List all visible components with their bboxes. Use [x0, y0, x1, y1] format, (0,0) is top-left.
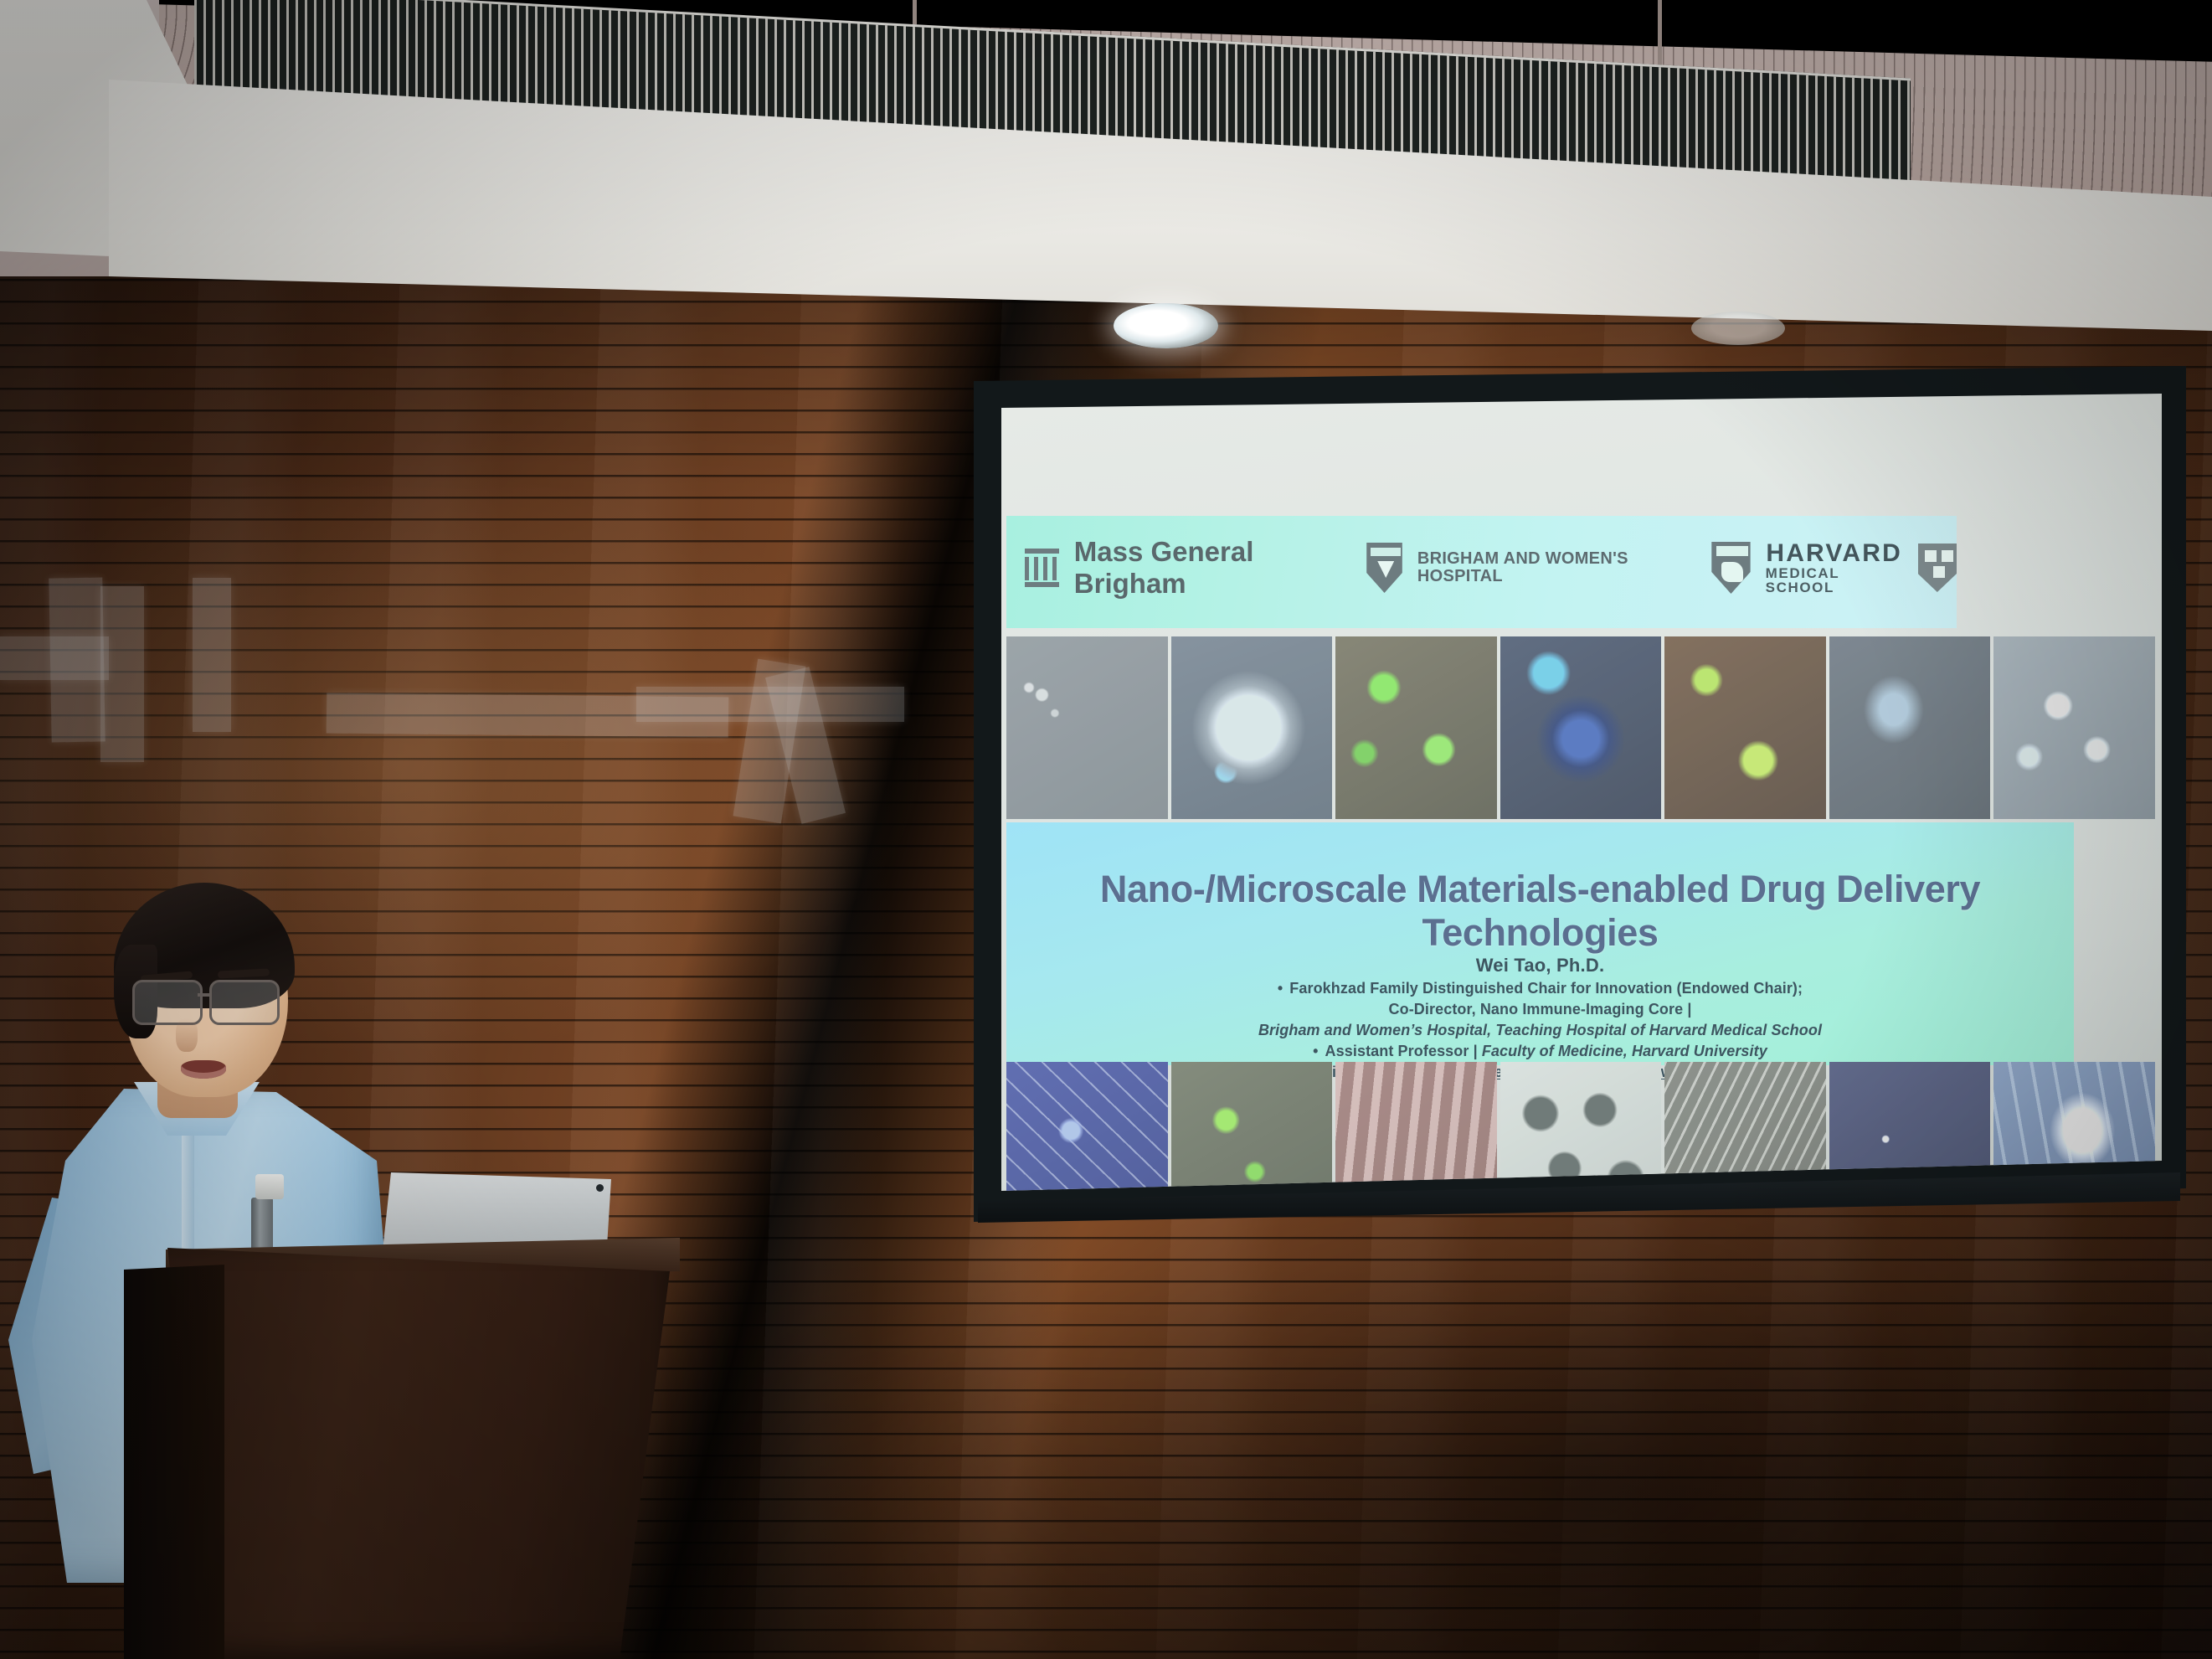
- bullet-icon: •: [1313, 1043, 1318, 1060]
- affiliation-line: Co-Director, Nano Immune-Imaging Core |: [1006, 1001, 2074, 1018]
- micrograph-cell: [1664, 636, 1826, 819]
- slide-title-band: Nano-/Microscale Materials-enabled Drug …: [1006, 822, 2074, 1065]
- micrograph-cell: [1006, 1062, 1168, 1191]
- slide-title: Nano-/Microscale Materials-enabled Drug …: [1006, 868, 2074, 955]
- micrograph-cell: [1335, 636, 1497, 819]
- bwh-shield-icon: [1366, 543, 1402, 593]
- presenter-name: Wei Tao, Ph.D.: [1006, 955, 2074, 976]
- speaker-nose: [176, 1018, 198, 1052]
- logo-row: Mass General Brigham BRIGHAM AND WOMEN'S…: [1025, 536, 1957, 600]
- projection-screen-surface: Mass General Brigham BRIGHAM AND WOMEN'S…: [1001, 394, 2162, 1191]
- ceiling-downlight-icon: [1691, 312, 1785, 345]
- podium-left-face: [124, 1265, 224, 1659]
- eyeglasses-icon: [132, 980, 296, 1022]
- hms-shield-icon: [1711, 542, 1750, 594]
- affiliation-line: Brigham and Women’s Hospital, Teaching H…: [1006, 1022, 2074, 1039]
- slide-logo-band: Mass General Brigham BRIGHAM AND WOMEN'S…: [1006, 516, 1957, 628]
- mgb-building-icon: [1025, 549, 1059, 587]
- logo-label-mgb: Mass General Brigham: [1074, 536, 1351, 600]
- presentation-photo: Mass General Brigham BRIGHAM AND WOMEN'S…: [0, 0, 2212, 1659]
- micrograph-cell: [1171, 636, 1333, 819]
- micrograph-cell: [1171, 1062, 1333, 1191]
- logo-label-bwh: BRIGHAM AND WOMEN'S HOSPITAL: [1417, 550, 1696, 585]
- affiliation-line: •Assistant Professor | Faculty of Medici…: [1006, 1043, 2074, 1060]
- micrograph-cell: [1500, 1062, 1662, 1191]
- slide-image-strip-top: [1006, 636, 2155, 819]
- tape-mark: [0, 636, 109, 680]
- micrograph-cell: [1829, 636, 1991, 819]
- laptop-camera-icon: [596, 1184, 604, 1192]
- micrograph-cell: [1993, 636, 2155, 819]
- tape-mark: [193, 578, 231, 732]
- micrograph-cell: [1006, 636, 1168, 819]
- logo-label-hms: HARVARD MEDICAL SCHOOL: [1766, 541, 1903, 595]
- bullet-icon: •: [1278, 980, 1283, 997]
- harvard-veritas-shield-icon: [1918, 544, 1957, 592]
- speaker-mouth: [181, 1060, 226, 1079]
- affiliation-line: •Farokhzad Family Distinguished Chair fo…: [1006, 980, 2074, 997]
- presentation-slide: Mass General Brigham BRIGHAM AND WOMEN'S…: [1001, 394, 2162, 1191]
- microphone-head-icon: [255, 1174, 284, 1199]
- micrograph-cell: [1500, 636, 1662, 819]
- micrograph-cell: [1335, 1062, 1497, 1191]
- ceiling-downlight-icon: [1114, 303, 1218, 348]
